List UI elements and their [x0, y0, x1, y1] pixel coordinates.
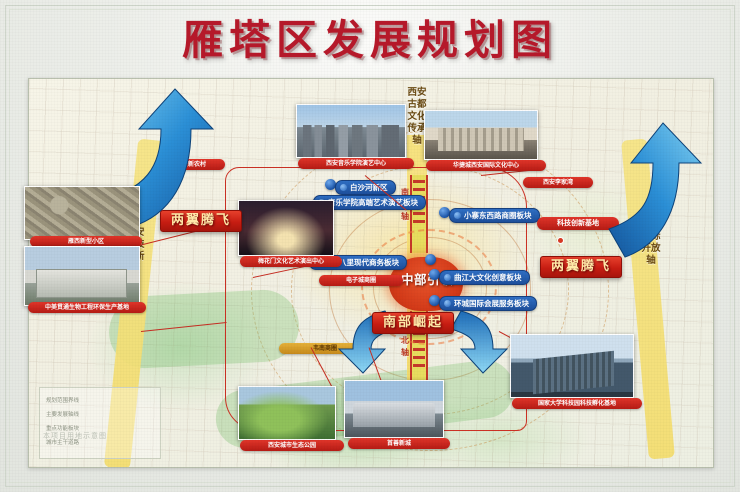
- legend-line-3: 城市主干道路: [46, 438, 79, 446]
- poster-background: 雁塔区发展规划图 西安科技创新轴 西安国际开放轴 西安古都文化传承轴: [0, 0, 740, 492]
- pill-bullet-icon: [454, 212, 461, 219]
- module-label-m5: 曲江大文化创意板块: [454, 272, 522, 283]
- photo-card-p5[interactable]: [424, 110, 538, 160]
- photo-caption-p2: 中美贯通生物工程环保生产基地: [28, 302, 146, 313]
- slogan-west-wings: 两翼腾飞: [160, 210, 242, 232]
- module-label-m7[interactable]: 电子城商圈: [319, 275, 403, 286]
- module-pill-m3[interactable]: 小寨东西路商圈板块: [449, 208, 540, 223]
- photo-caption-p5: 华捷城西安国际文化中心: [426, 160, 546, 171]
- module-dot-m4: [425, 254, 436, 265]
- slogan-east-wings: 两翼腾飞: [540, 256, 622, 278]
- legend-line-2: 重点功能板块: [46, 424, 79, 432]
- photo-caption-p7: 首善新城: [348, 438, 450, 449]
- page-title: 雁塔区发展规划图: [0, 14, 740, 66]
- legend-line-1: 主要发展轴线: [46, 410, 79, 418]
- legend-line-0: 规划范围界线: [46, 396, 79, 404]
- photo-card-p7[interactable]: [344, 380, 444, 438]
- photo-card-p1[interactable]: [24, 186, 140, 240]
- photo-caption-p8: 国家大学科技园科技孵化基地: [512, 398, 642, 409]
- module-label-m3: 小寨东西路商圈板块: [464, 210, 532, 221]
- photo-card-p3[interactable]: [238, 200, 334, 256]
- module-label-m1: 白沙河新区: [350, 182, 388, 193]
- slogan-south-rise: 南部崛起: [372, 312, 454, 334]
- photo-card-p6[interactable]: [238, 386, 336, 440]
- photo-caption-p3: 梅花门文化艺术演出中心: [240, 256, 342, 267]
- arrow-east-wing: [617, 119, 714, 259]
- photo-card-p2[interactable]: [24, 246, 140, 306]
- module-label-m9[interactable]: 西安李家湾: [523, 177, 593, 188]
- photo-card-p8[interactable]: [510, 334, 634, 398]
- module-pill-m5[interactable]: 曲江大文化创意板块: [439, 270, 530, 285]
- map-legend: 规划范围界线 主要发展轴线 重点功能板块 城市主干道路: [39, 387, 161, 459]
- module-label-m10[interactable]: 科技创新基地: [537, 217, 619, 230]
- photo-caption-p4: 西安音乐学院演艺中心: [298, 158, 414, 169]
- pill-bullet-icon: [444, 274, 451, 281]
- photo-card-p4[interactable]: [296, 104, 406, 158]
- module-label-m2: 音乐学院高端艺术演艺板块: [328, 197, 418, 208]
- leader-point-m10: [557, 237, 564, 244]
- pill-bullet-icon: [340, 184, 347, 191]
- photo-caption-p6: 西安城市生态公园: [240, 440, 344, 451]
